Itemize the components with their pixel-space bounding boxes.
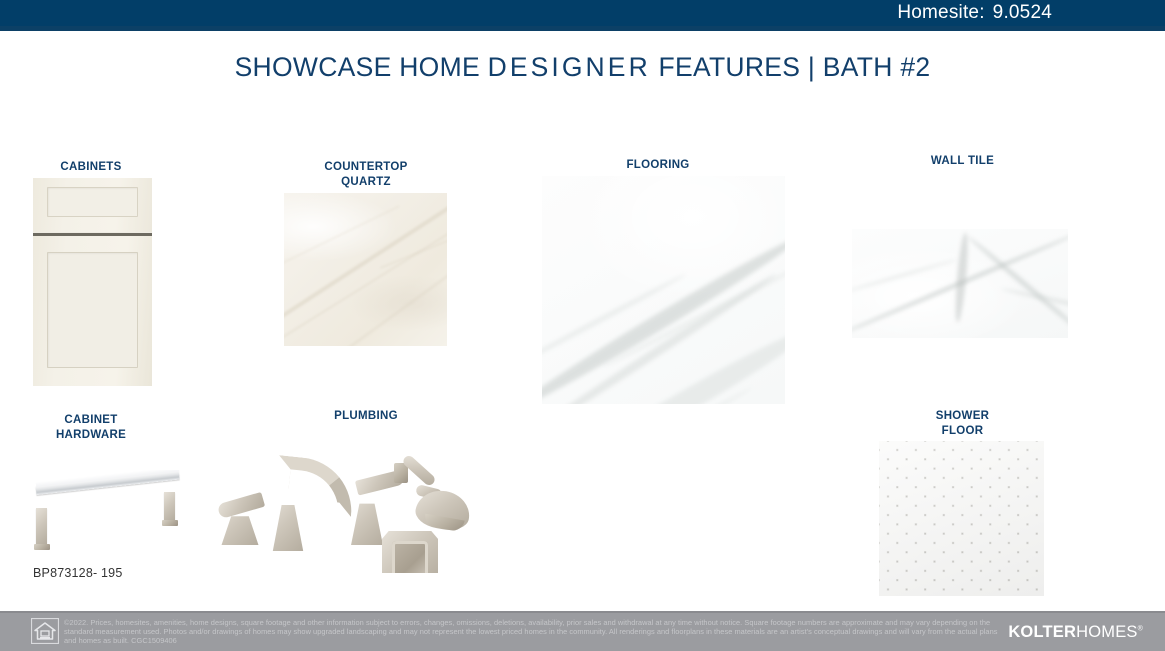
kolter-homes-logo: KOLTERHOMES® xyxy=(1008,623,1143,642)
faucet-left-handle-lever xyxy=(217,492,265,519)
quartz-surface xyxy=(284,193,447,346)
label-shower-floor: SHOWER FLOOR xyxy=(890,409,1035,438)
swatch-plumbing xyxy=(212,443,470,573)
page-title-part2: FEATURES | BATH #2 xyxy=(651,52,931,82)
swatch-cabinet-hardware xyxy=(30,470,190,560)
label-cabinet-hardware: CABINET HARDWARE xyxy=(16,413,166,442)
cabinet-door-front xyxy=(33,236,152,386)
bar-pull-left-post xyxy=(36,508,47,546)
page-title: SHOWCASE HOME DESIGNER FEATURES | BATH #… xyxy=(0,52,1165,83)
cabinet-hardware-sku: BP873128- 195 xyxy=(33,566,122,580)
footer-top-edge xyxy=(0,611,1165,613)
showcase-features-page: Homesite:9.0524 SHOWCASE HOME DESIGNER F… xyxy=(0,0,1165,651)
footer-disclaimer: ©2022. Prices, homesites, amenities, hom… xyxy=(64,619,999,646)
cabinet-drawer-panel xyxy=(47,187,138,217)
logo-registered-mark: ® xyxy=(1138,626,1143,633)
homesite-value: 9.0524 xyxy=(993,2,1052,23)
swatch-cabinets xyxy=(33,178,152,386)
faucet-right-handle-base xyxy=(346,499,388,545)
equal-housing-opportunity-icon xyxy=(31,618,59,644)
swatch-countertop-quartz xyxy=(284,193,447,346)
label-plumbing: PLUMBING xyxy=(291,409,441,424)
homesite-display: Homesite:9.0524 xyxy=(897,2,1052,24)
logo-kolter: KOLTER xyxy=(1008,623,1076,641)
faucet-spout-arc xyxy=(273,455,356,517)
page-title-part1: SHOWCASE HOME xyxy=(235,52,488,82)
logo-homes: HOMES xyxy=(1076,623,1138,641)
bar-pull-left-foot xyxy=(34,544,50,550)
swatch-shower-floor xyxy=(879,441,1044,596)
cabinet-door-panel xyxy=(47,252,138,368)
swatch-wall-tile xyxy=(852,229,1068,338)
label-cabinets: CABINETS xyxy=(16,160,166,175)
penny-tile-shading xyxy=(879,441,1044,596)
cabinet-drawer-front xyxy=(33,178,152,232)
label-flooring: FLOORING xyxy=(588,158,728,173)
label-wall-tile: WALL TILE xyxy=(890,154,1035,169)
header-bar-accent xyxy=(0,26,1165,31)
page-title-designer: DESIGNER xyxy=(488,52,651,82)
label-countertop: COUNTERTOP QUARTZ xyxy=(291,160,441,189)
bar-pull-right-foot xyxy=(162,520,178,526)
homesite-label: Homesite: xyxy=(897,2,984,23)
bar-pull-right-post xyxy=(164,492,175,522)
shower-valve-trim-inner xyxy=(392,541,428,573)
swatch-flooring xyxy=(542,176,785,404)
